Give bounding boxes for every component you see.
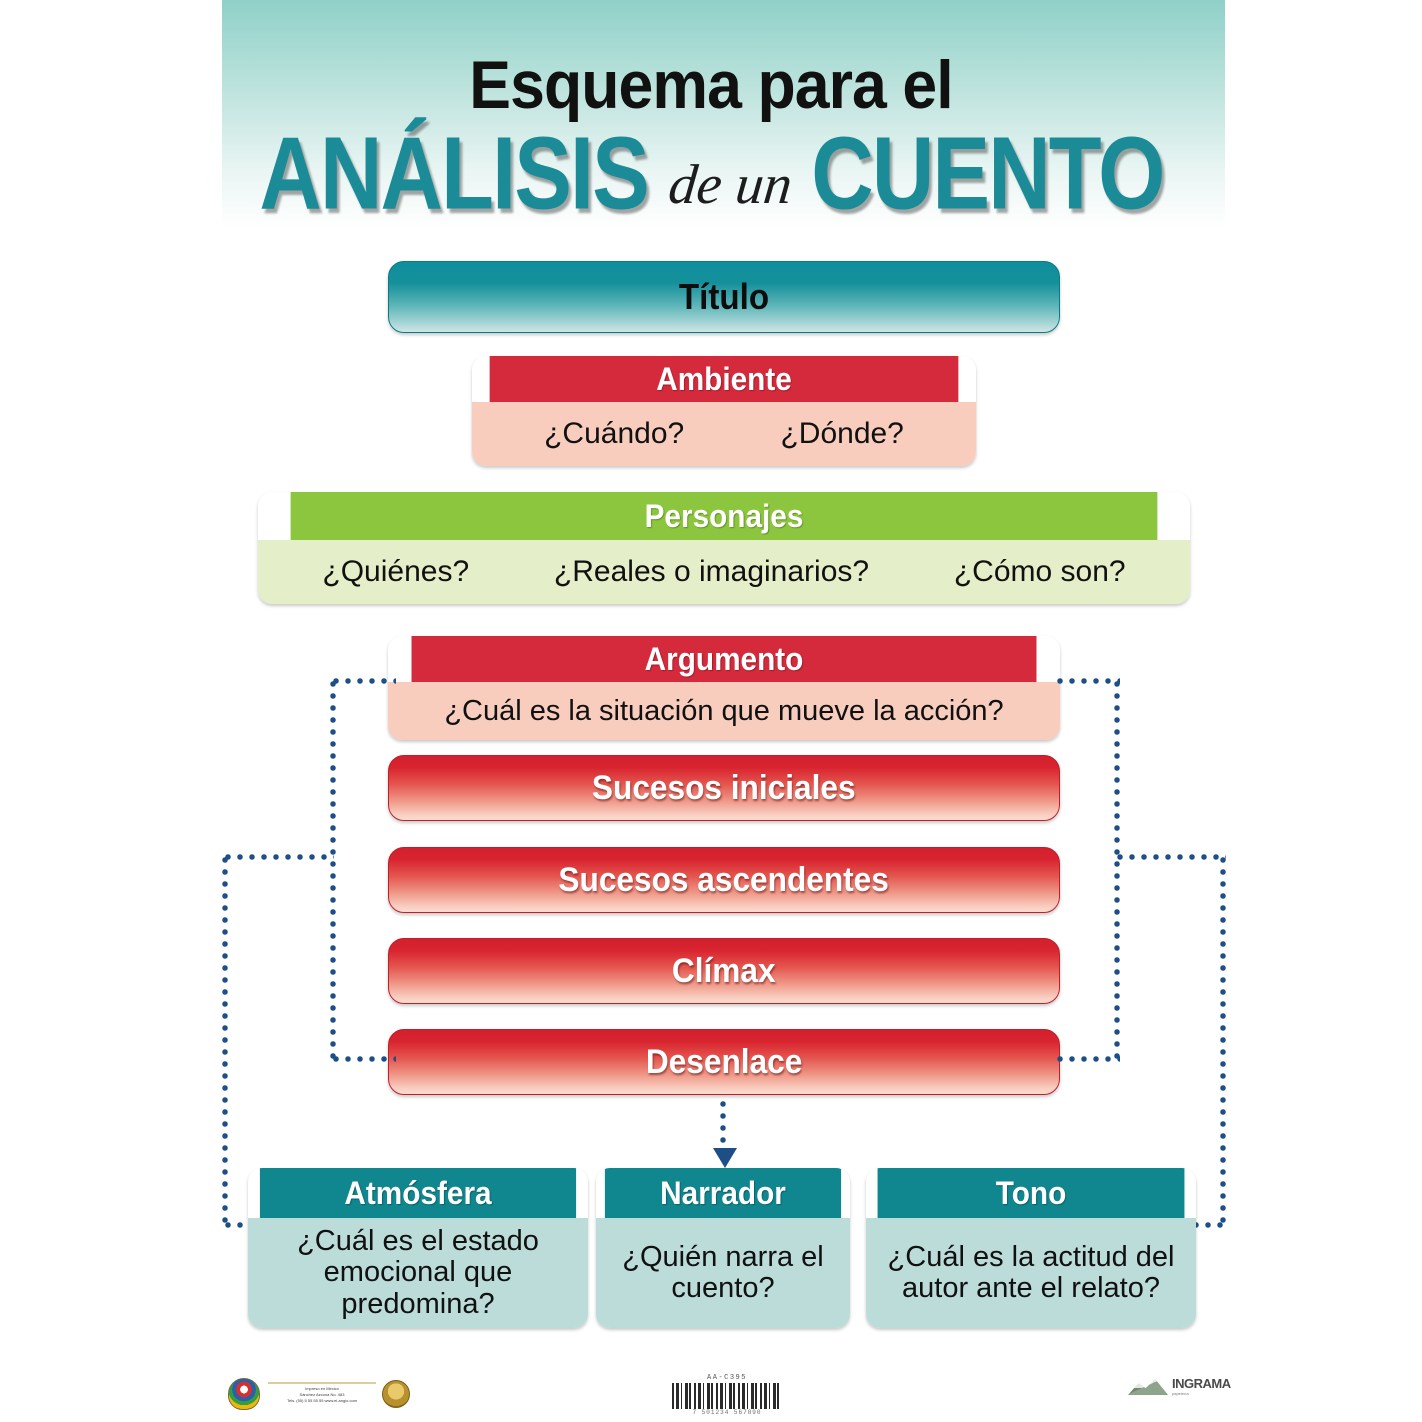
connector-inner-top-right (1054, 678, 1120, 684)
pill-climax: Clímax (388, 938, 1060, 1004)
barcode-block: AA-C395 7 501234 567890 (672, 1374, 782, 1416)
box-atmosfera: Atmósfera ¿Cuál es el estado emocional q… (248, 1168, 588, 1328)
box-ambiente: Ambiente ¿Cuándo? ¿Dónde? (472, 356, 976, 466)
box-argumento-heading: Argumento (412, 636, 1037, 682)
connector-outer-left-vertical (222, 854, 228, 1226)
box-personajes-body: ¿Quiénes? ¿Reales o imaginarios? ¿Cómo s… (258, 540, 1190, 604)
footer: Impreso en México Sánchez Azcona No. 483… (0, 1372, 1422, 1422)
title-word-analisis: ANÁLISIS (260, 122, 649, 225)
pill-label: Sucesos ascendentes (559, 861, 889, 900)
ambiente-question-2: ¿Dónde? (780, 417, 903, 451)
barcode-number: 7 501234 567890 (672, 1409, 782, 1416)
publisher-seal-icon (382, 1380, 410, 1408)
publisher-shield-icon (228, 1378, 260, 1410)
title-line-main: ANÁLISISde unCUENTO (0, 128, 1422, 220)
title-line-esquema: Esquema para el (57, 46, 1365, 124)
box-personajes-heading: Personajes (291, 492, 1158, 540)
brand-logo: INGRAMA papelería (1128, 1376, 1231, 1396)
box-narrador: Narrador ¿Quién narra el cuento? (596, 1168, 850, 1328)
connector-inner-bottom-right (1054, 1056, 1120, 1062)
connector-outer-right-vertical (1220, 854, 1226, 1226)
personajes-question-1: ¿Quiénes? (322, 555, 469, 589)
personajes-question-2: ¿Reales o imaginarios? (554, 555, 869, 589)
footer-divider (268, 1382, 376, 1384)
argumento-question: ¿Cuál es la situación que mueve la acció… (444, 695, 1003, 728)
pill-label: Desenlace (646, 1043, 802, 1082)
poster-title-block: Esquema para el ANÁLISISde unCUENTO (0, 0, 1422, 240)
connector-inner-bottom-left (330, 1056, 396, 1062)
brand-name: INGRAMA (1172, 1376, 1231, 1391)
connector-inner-top-left (330, 678, 396, 684)
pill-label: Sucesos iniciales (592, 769, 856, 808)
pill-sucesos-ascendentes: Sucesos ascendentes (388, 847, 1060, 913)
product-code: AA-C395 (672, 1374, 782, 1382)
barcode-icon (672, 1383, 782, 1409)
box-tono-heading: Tono (878, 1168, 1185, 1218)
connector-desenlace-to-narrador (720, 1098, 726, 1150)
connector-inner-left-vertical (330, 678, 336, 1060)
pill-desenlace: Desenlace (388, 1029, 1060, 1095)
ambiente-question-1: ¿Cuándo? (544, 417, 684, 451)
box-ambiente-body: ¿Cuándo? ¿Dónde? (472, 402, 976, 466)
connector-inner-right-vertical (1114, 678, 1120, 1060)
arrow-down-icon (713, 1148, 737, 1168)
pill-sucesos-iniciales: Sucesos iniciales (388, 755, 1060, 821)
box-atmosfera-heading: Atmósfera (260, 1168, 576, 1218)
box-atmosfera-question: ¿Cuál es el estado emocional que predomi… (248, 1218, 588, 1328)
box-titulo: Título (388, 261, 1060, 333)
mountain-icon (1128, 1377, 1168, 1395)
box-ambiente-heading: Ambiente (490, 356, 959, 402)
box-argumento-body: ¿Cuál es la situación que mueve la acció… (388, 682, 1060, 740)
title-word-cuento: CUENTO (811, 122, 1163, 225)
box-tono-question: ¿Cuál es la actitud del autor ante el re… (866, 1218, 1196, 1328)
box-personajes: Personajes ¿Quiénes? ¿Reales o imaginari… (258, 492, 1190, 604)
box-argumento: Argumento ¿Cuál es la situación que muev… (388, 636, 1060, 740)
brand-subtitle: papelería (1172, 1391, 1231, 1396)
box-narrador-question: ¿Quién narra el cuento? (596, 1218, 850, 1328)
title-word-connector: de un (658, 157, 803, 213)
box-titulo-label: Título (679, 276, 769, 318)
box-tono: Tono ¿Cuál es la actitud del autor ante … (866, 1168, 1196, 1328)
pill-label: Clímax (672, 952, 776, 991)
personajes-question-3: ¿Cómo son? (954, 555, 1126, 589)
connector-outer-top-right (1114, 854, 1226, 860)
box-narrador-heading: Narrador (605, 1168, 841, 1218)
footer-address: Impreso en México Sánchez Azcona No. 483… (268, 1386, 376, 1404)
connector-outer-top-left (222, 854, 334, 860)
